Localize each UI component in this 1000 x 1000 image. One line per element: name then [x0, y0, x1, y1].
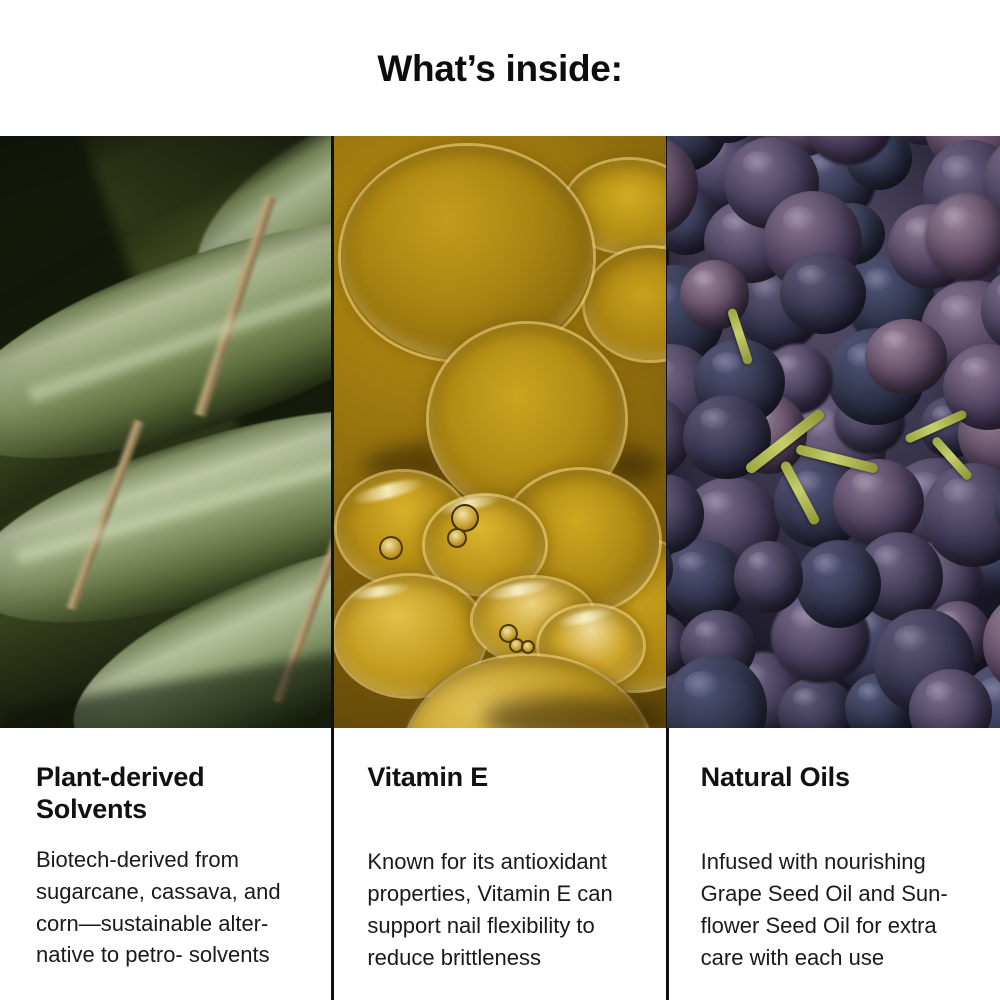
header: What’s inside:: [0, 0, 1000, 136]
caption-vitamin-e: Vitamin E Known for its antioxidant prop…: [333, 728, 666, 1000]
caption-body: Infused with nourishing Grape Seed Oil a…: [701, 846, 974, 974]
caption-body: Biotech-derived from sugarcane, cassava,…: [36, 844, 303, 972]
caption-title: Plant-derived Solvents: [36, 762, 303, 826]
ingredient-card-vitamin-e: Vitamin E Known for its antioxidant prop…: [333, 136, 666, 1000]
caption-body: Known for its antioxidant properties, Vi…: [367, 846, 640, 974]
ingredient-card-plant-derived-solvents: Plant-derived Solvents Biotech-derived f…: [0, 136, 333, 1000]
grape-berry: [780, 253, 866, 334]
page-title: What’s inside:: [377, 50, 622, 87]
caption-natural-oils: Natural Oils Infused with nourishing Gra…: [667, 728, 1000, 1000]
ingredient-card-natural-oils: Natural Oils Infused with nourishing Gra…: [667, 136, 1000, 1000]
grape-berry: [734, 541, 804, 613]
golden-oil-bubbles-photo: [333, 136, 666, 728]
sugarcane-stalks-photo: [0, 136, 333, 728]
caption-plant-derived-solvents: Plant-derived Solvents Biotech-derived f…: [0, 728, 333, 1000]
column-divider-1: [331, 136, 334, 1000]
caption-title: Natural Oils: [701, 762, 974, 794]
grape-berry: [865, 319, 946, 395]
dark-grapes-photo: [667, 136, 1000, 728]
grape-berry: [925, 193, 1000, 281]
ingredient-columns: Plant-derived Solvents Biotech-derived f…: [0, 136, 1000, 1000]
grape-berry: [796, 540, 882, 628]
caption-title: Vitamin E: [367, 762, 640, 794]
whats-inside-infographic: What’s inside:: [0, 0, 1000, 1000]
